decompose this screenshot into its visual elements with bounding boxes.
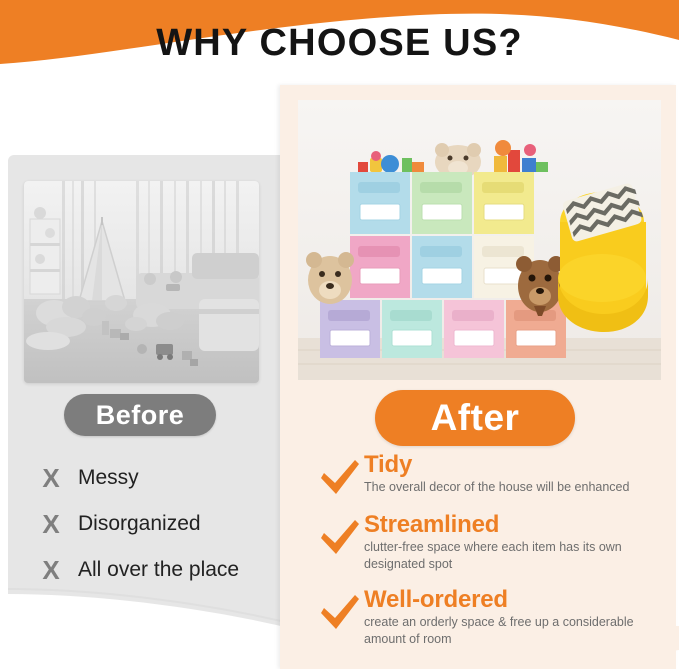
- why-choose-us-infographic: WHY CHOOSE US?: [0, 0, 679, 669]
- list-item: Streamlined clutter-free space where eac…: [318, 512, 670, 573]
- check-icon: [318, 518, 362, 558]
- after-item-description: create an orderly space & free up a cons…: [364, 614, 664, 648]
- after-item-description: clutter-free space where each item has i…: [364, 539, 664, 573]
- after-item-text: Well-ordered create an orderly space & f…: [362, 587, 670, 648]
- x-icon: X: [36, 557, 66, 583]
- before-badge-label: Before: [96, 400, 185, 431]
- before-item-label: Disorganized: [78, 512, 201, 536]
- check-icon: [318, 593, 362, 633]
- after-item-text: Tidy The overall decor of the house will…: [362, 452, 670, 496]
- list-item: X Messy: [36, 455, 286, 501]
- x-icon: X: [36, 511, 66, 537]
- page-title: WHY CHOOSE US?: [0, 22, 679, 65]
- after-item-description: The overall decor of the house will be e…: [364, 479, 664, 496]
- list-item: X All over the place: [36, 547, 286, 593]
- list-item: Tidy The overall decor of the house will…: [318, 452, 670, 498]
- after-photo-pastel-storage-bins: [298, 100, 661, 380]
- after-item-heading: Well-ordered: [364, 587, 670, 612]
- after-item-heading: Streamlined: [364, 512, 670, 537]
- check-icon: [318, 458, 362, 498]
- after-badge: After: [375, 390, 575, 446]
- before-item-label: All over the place: [78, 558, 239, 582]
- after-list: Tidy The overall decor of the house will…: [318, 452, 670, 662]
- before-photo-messy-playroom: [24, 181, 259, 383]
- before-badge: Before: [64, 394, 216, 436]
- after-item-heading: Tidy: [364, 452, 670, 477]
- before-list: X Messy X Disorganized X All over the pl…: [36, 455, 286, 593]
- after-badge-label: After: [431, 397, 520, 439]
- after-item-text: Streamlined clutter-free space where eac…: [362, 512, 670, 573]
- x-icon: X: [36, 465, 66, 491]
- list-item: Well-ordered create an orderly space & f…: [318, 587, 670, 648]
- before-item-label: Messy: [78, 466, 139, 490]
- list-item: X Disorganized: [36, 501, 286, 547]
